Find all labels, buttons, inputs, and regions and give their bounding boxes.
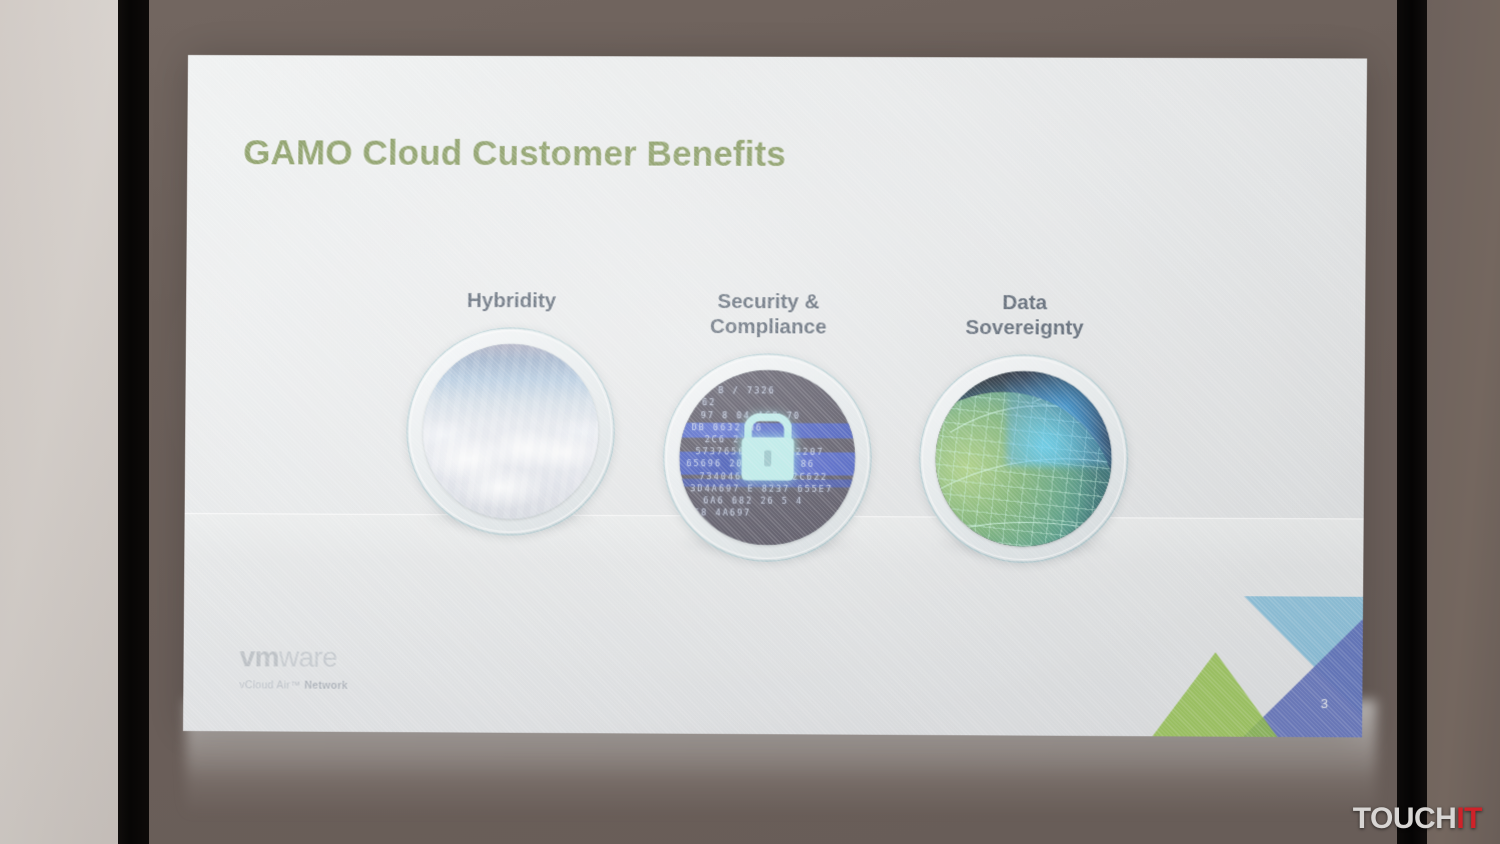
vmware-logo-ware: ware [279,641,338,672]
benefit-label-line: Sovereignty [874,315,1176,341]
hex-code-row: 2C6 2 [705,435,741,445]
vcloud-air-network-tagline: vCloud Air™ Network [239,679,348,692]
hex-code-row: 97 8 04 A69 70 [701,410,801,420]
hex-code-row: 3D4A697 E 8237 655E7 [690,484,833,495]
globe-grid-arc [935,391,1112,546]
corner-green-triangle [1152,652,1278,737]
hex-code-row: 65696 202C 4206 86 [686,459,815,470]
globe-network-icon [935,371,1112,547]
hex-code-row: 58 4A697 [694,508,751,518]
padlock-over-hex-code-icon: F 0686E2 B / 73262 6297 8 04 A69 70DB 06… [679,370,856,546]
hex-code-row: 2 62 [688,398,717,408]
tagline-prefix: vCloud Air [239,679,290,691]
tagline-tm: ™ [290,680,301,692]
vmware-logo: vmware vCloud Air™ Network [239,643,348,692]
left-pillar [118,0,149,844]
projected-slide: GAMO Cloud Customer Benefits Hybridity [183,55,1367,737]
slide-page-number: 3 [1321,696,1328,711]
left-wall [0,0,120,844]
disc-ring: F 0686E2 B / 73262 6297 8 04 A69 70DB 06… [662,353,872,562]
hex-code-row: 6A6 682 26 5 4 [703,496,803,506]
right-pillar [1397,0,1427,844]
disc-ring [918,354,1129,564]
globe-grid-arc [935,391,1112,546]
benefit-item-data-sovereignty[interactable]: Data Sovereignty [872,290,1176,566]
right-wall [1427,0,1500,844]
clouds-from-above-icon [422,343,599,519]
globe-grid-arc [935,435,1112,547]
corner-decoration: 3 [1130,596,1363,738]
lock-icon [741,437,794,480]
hex-code-row: B [685,520,692,530]
watermark-touch: TOUCH [1353,802,1457,835]
hex-code-row: DB 0632 66 [692,422,764,432]
disc-ring [406,327,616,536]
hex-code-row: F 0686 [684,374,727,384]
benefit-label-line: Data [874,290,1176,316]
benefit-label: Data Sovereignty [874,290,1176,341]
touchit-watermark: TOUCHIT [1353,804,1482,834]
hex-code-row: 73404602 3 5F2C622 [699,471,828,482]
hex-code-row: 4 5 [698,532,720,542]
benefit-disc-holder [872,354,1175,566]
tagline-suffix: Network [304,680,348,692]
hex-code-row: E2 B / 7326 [697,386,776,396]
photo-scene: GAMO Cloud Customer Benefits Hybridity [0,0,1500,844]
globe-grid-arc [935,508,1112,547]
watermark-it: IT [1456,802,1482,835]
vmware-logo-vm: vm [239,641,279,672]
hex-code-row: 5737656 E7 7572207 [695,447,824,458]
